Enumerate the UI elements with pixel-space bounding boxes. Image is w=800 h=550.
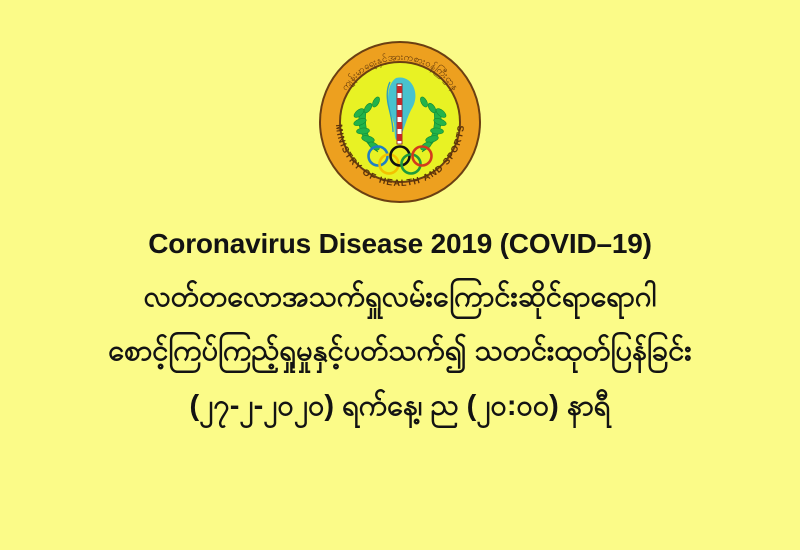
page-title-english: Coronavirus Disease 2019 (COVID–19) <box>0 228 800 260</box>
ministry-seal-icon: ကျန်းမာရေးနှင့်အားကစားဝန်ကြီးဌာန MINISTR… <box>316 38 484 206</box>
headline-date-line-burmese: (၂၇-၂-၂၀၂၀) ရက်နေ့၊ ည (၂၀:၀၀) နာရီ <box>0 385 800 429</box>
headline-block: Coronavirus Disease 2019 (COVID–19) လတ်တ… <box>0 228 800 429</box>
announcement-page: ကျန်းမာရေးနှင့်အားကစားဝန်ကြီးဌာန MINISTR… <box>0 0 800 550</box>
headline-line-1-burmese: လတ်တလောအသက်ရှူလမ်းကြောင်းဆိုင်ရာရောဂါ <box>0 276 800 320</box>
headline-line-2-burmese: စောင့်ကြပ်ကြည့်ရှုမှုနှင့်ပတ်သက်၍ သတင်းထ… <box>0 330 800 374</box>
ministry-seal-logo: ကျန်းမာရေးနှင့်အားကစားဝန်ကြီးဌာန MINISTR… <box>316 38 484 206</box>
